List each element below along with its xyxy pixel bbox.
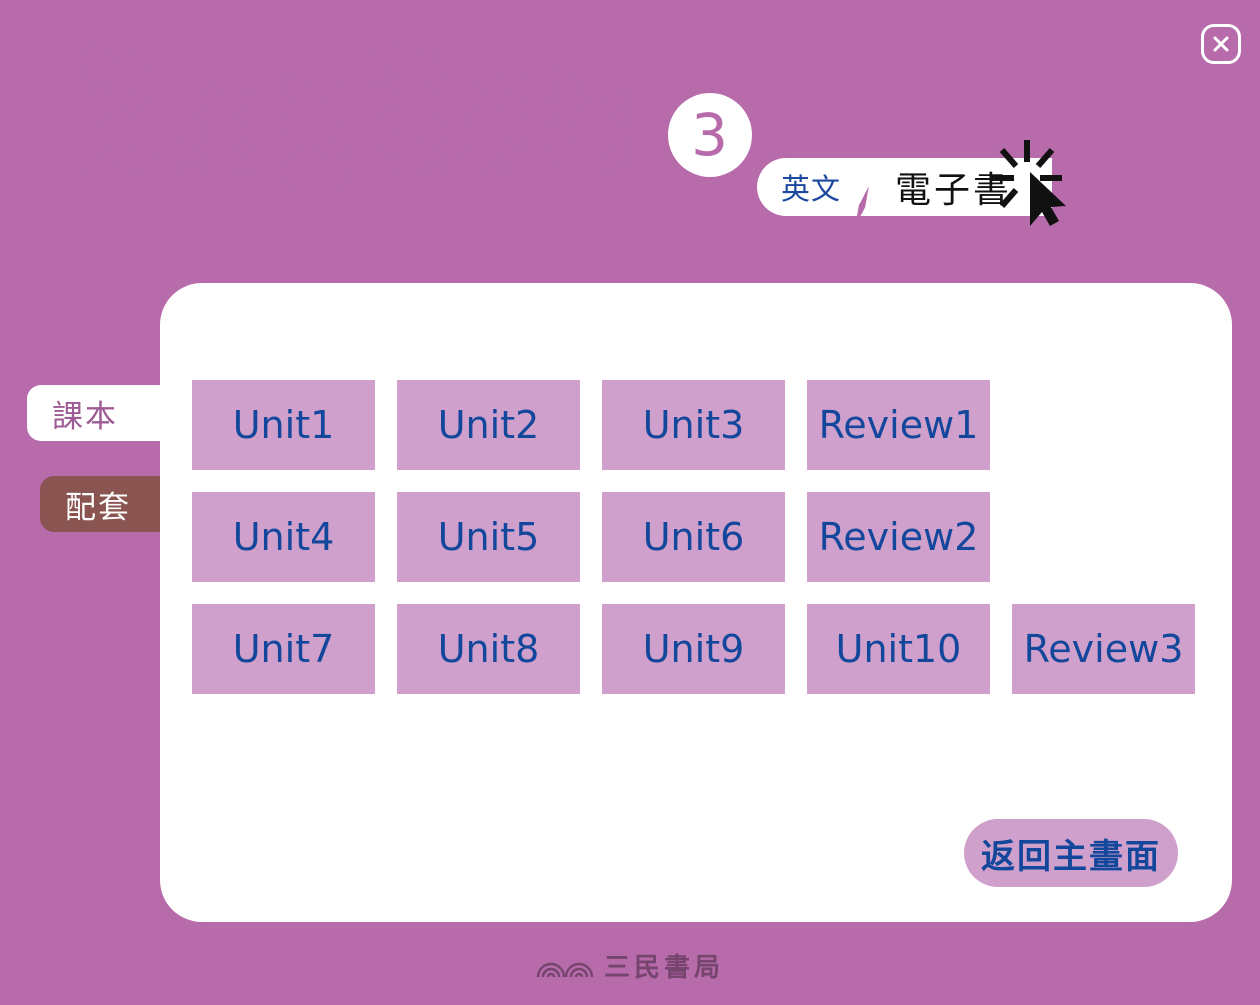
unit-grid-row: Unit4Unit5Unit6Review2 xyxy=(192,492,1202,582)
unit-grid-row: Unit7Unit8Unit9Unit10Review3 xyxy=(192,604,1202,694)
unit-button-unit7[interactable]: Unit7 xyxy=(192,604,375,694)
logo-wordmark: English xyxy=(70,30,634,192)
slash-divider xyxy=(857,158,887,216)
content-panel: Unit1Unit2Unit3Review1Unit4Unit5Unit6Rev… xyxy=(160,283,1232,922)
subject-label: 英文 xyxy=(757,158,857,216)
unit-button-unit2[interactable]: Unit2 xyxy=(397,380,580,470)
close-button[interactable] xyxy=(1201,24,1241,64)
unit-grid-row: Unit1Unit2Unit3Review1 xyxy=(192,380,1202,470)
unit-button-unit3[interactable]: Unit3 xyxy=(602,380,785,470)
ebook-banner: 英文 電子書 xyxy=(757,158,1052,216)
unit-button-unit4[interactable]: Unit4 xyxy=(192,492,375,582)
unit-button-unit10[interactable]: Unit10 xyxy=(807,604,990,694)
unit-button-unit6[interactable]: Unit6 xyxy=(602,492,785,582)
unit-button-unit9[interactable]: Unit9 xyxy=(602,604,785,694)
sidebar-tab-textbook-label: 課本 xyxy=(52,391,118,436)
sidebar-tab-supplement-label: 配套 xyxy=(65,482,131,527)
unit-button-review2[interactable]: Review2 xyxy=(807,492,990,582)
unit-button-unit8[interactable]: Unit8 xyxy=(397,604,580,694)
publisher-footer: 三民書局 xyxy=(0,947,1260,984)
app-logo: English 3 xyxy=(70,50,752,193)
rainbow-arc-icon xyxy=(536,953,594,979)
unit-button-unit5[interactable]: Unit5 xyxy=(397,492,580,582)
unit-button-review3[interactable]: Review3 xyxy=(1012,604,1195,694)
return-home-button[interactable]: 返回主畫面 xyxy=(964,819,1178,887)
logo-level-badge: 3 xyxy=(668,93,752,177)
unit-grid: Unit1Unit2Unit3Review1Unit4Unit5Unit6Rev… xyxy=(192,380,1202,694)
publisher-name: 三民書局 xyxy=(604,947,724,984)
unit-button-review1[interactable]: Review1 xyxy=(807,380,990,470)
unit-button-unit1[interactable]: Unit1 xyxy=(192,380,375,470)
format-label: 電子書 xyxy=(887,158,1052,216)
close-icon xyxy=(1210,33,1232,55)
